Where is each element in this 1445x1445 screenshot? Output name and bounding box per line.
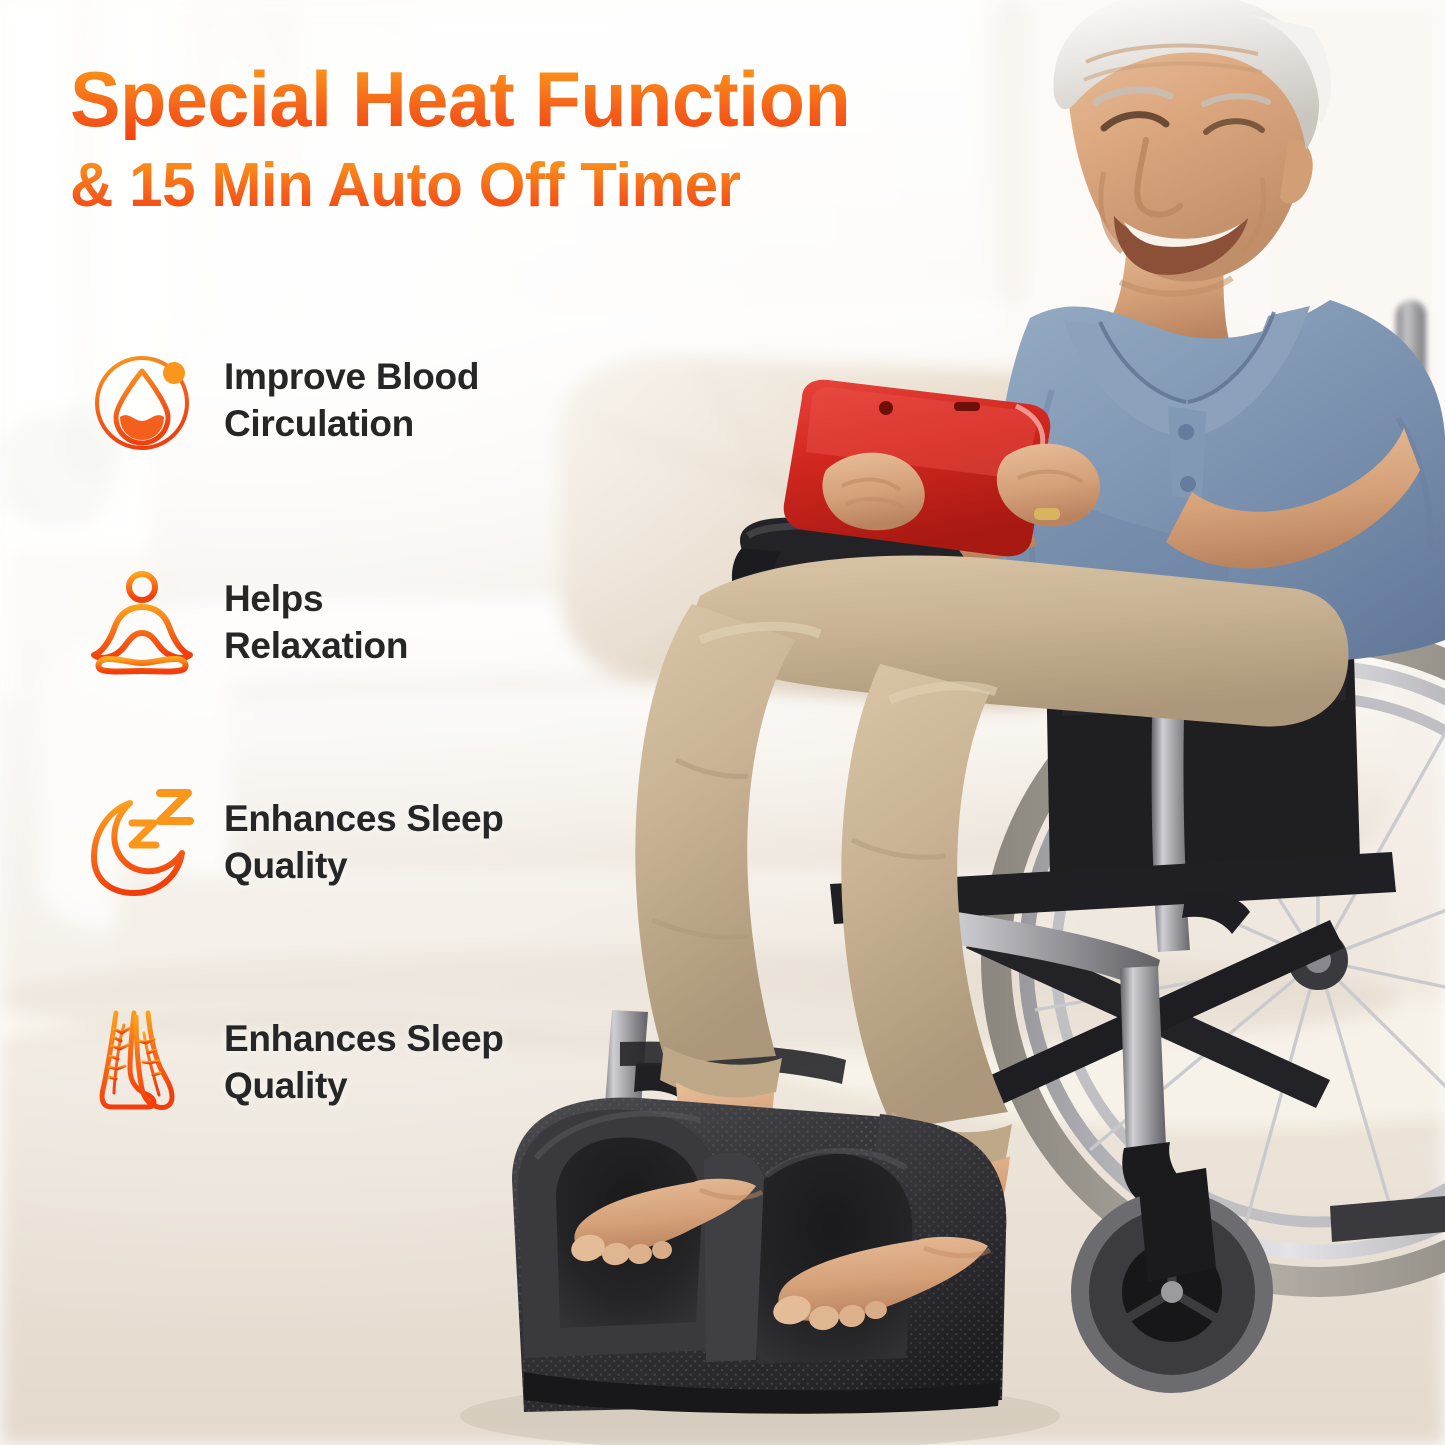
feature-label: Enhances Sleep Quality [224, 796, 504, 889]
feature-label: Improve Blood Circulation [224, 354, 479, 447]
legs-varicose-veins-icon [86, 1007, 198, 1119]
feature-label: Enhances Sleep Quality [224, 1016, 504, 1109]
foreground-subject [0, 0, 1445, 1445]
product-feature-banner: Special Heat Function & 15 Min Auto Off … [0, 0, 1445, 1445]
meditation-lotus-icon [86, 567, 198, 679]
room-photo-scene [0, 0, 1445, 1445]
blood-drop-circulation-icon [86, 345, 198, 457]
feature-item-helps-relaxation: Helps Relaxation [86, 567, 408, 679]
feature-item-improve-blood-circulation: Improve Blood Circulation [86, 345, 479, 457]
feature-label: Helps Relaxation [224, 576, 408, 669]
crescent-moon-zzz-icon [86, 787, 198, 899]
feature-item-enhances-sleep-quality-legs: Enhances Sleep Quality [86, 1007, 504, 1119]
feature-item-enhances-sleep-quality: Enhances Sleep Quality [86, 787, 504, 899]
wheelchair-caster [1080, 1142, 1264, 1384]
